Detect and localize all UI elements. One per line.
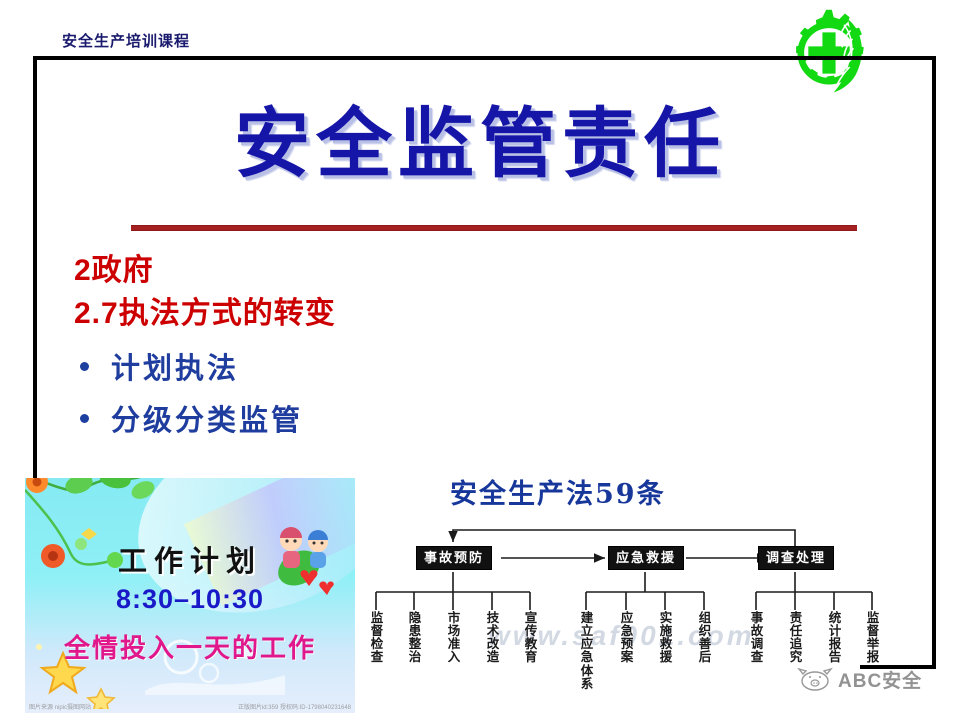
photo-credit-left: 图片来源 nipic摄图网站 — [29, 702, 91, 711]
flow-leaf-2-3: 实施救援 — [658, 612, 674, 665]
title-divider-rule — [131, 225, 857, 231]
flow-leaf-2-1: 建立应急体系 — [579, 612, 595, 691]
flow-leaf-3-3: 统计报告 — [827, 612, 843, 665]
bullet-dot-icon — [80, 414, 89, 423]
flowchart-title: 安全生产法59条 — [450, 472, 666, 511]
flow-leaf-3-4: 监督举报 — [865, 612, 881, 665]
flow-leaf-1-3: 市场准入 — [446, 612, 462, 665]
frame-border-top — [33, 56, 936, 60]
flow-node-2: 应急救援 — [608, 546, 684, 570]
flow-node-3: 调查处理 — [758, 546, 834, 570]
section-heading-2: 2.7执法方式的转变 — [74, 293, 594, 336]
flow-leaf-3-2: 责任追究 — [788, 612, 804, 665]
bullet-content-block: 2政府 2.7执法方式的转变 计划执法 分级分类监管 — [74, 250, 594, 439]
photo-credit-right: 正版图片id:359 授权码:ID-1798040231648 — [238, 702, 351, 711]
photo-title: 工作计划 — [25, 538, 355, 580]
bullet-dot-icon — [80, 362, 89, 371]
flow-leaf-1-5: 宣传教育 — [523, 612, 539, 665]
work-plan-illustration: 工作计划 8:30–10:30 全情投入一天的工作 图片来源 nipic摄图网站… — [25, 478, 355, 713]
flow-node-1: 事故预防 — [416, 546, 492, 570]
flow-leaf-1-4: 技术改造 — [485, 612, 501, 665]
flow-leaf-1-2: 隐患整治 — [407, 612, 423, 665]
slide-title: 安全监管责任 — [0, 106, 960, 182]
flow-leaf-3-1: 事故调查 — [749, 612, 765, 665]
flow-leaf-2-4: 组织善后 — [697, 612, 713, 665]
bullet-label-1: 计划执法 — [111, 345, 239, 387]
section-heading-1: 2政府 — [74, 250, 594, 293]
photo-time: 8:30–10:30 — [25, 584, 355, 615]
flow-leaf-2-2: 应急预案 — [619, 612, 635, 665]
safety-production-logo — [782, 6, 876, 100]
course-kicker: 安全生产培训课程 — [62, 30, 190, 51]
slide-canvas: 安全生产培训课程 — [0, 0, 960, 720]
flow-leaf-1-1: 监督检查 — [369, 612, 385, 665]
safety-law-flowchart: www.saf001.com — [368, 512, 938, 712]
photo-slogan: 全情投入一天的工作 — [25, 628, 355, 665]
list-item: 分级分类监管 — [80, 397, 594, 439]
list-item: 计划执法 — [80, 345, 594, 387]
bullet-label-2: 分级分类监管 — [111, 397, 303, 439]
